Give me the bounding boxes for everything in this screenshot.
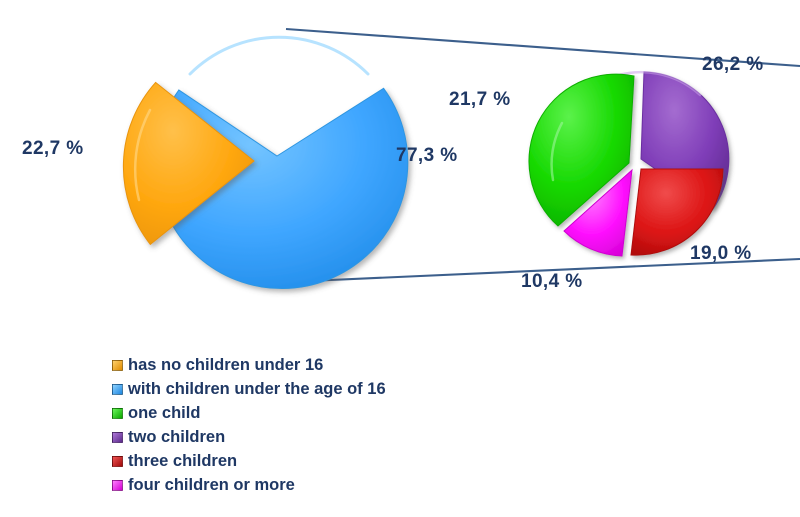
legend-label-has-no-children: has no children under 16 bbox=[128, 357, 323, 374]
legend-swatch-one-child bbox=[112, 408, 123, 419]
legend-swatch-three-children bbox=[112, 456, 123, 467]
label-three-children-pct: 19,0 % bbox=[690, 243, 752, 265]
legend-swatch-two-children bbox=[112, 432, 123, 443]
legend-item-one-child[interactable]: one child bbox=[112, 403, 386, 424]
legend-label-with-children: with children under the age of 16 bbox=[128, 381, 386, 398]
legend-label-one-child: one child bbox=[128, 405, 200, 422]
legend-item-four-or-more-children[interactable]: four children or more bbox=[112, 475, 386, 496]
legend-swatch-four-or-more-children bbox=[112, 480, 123, 491]
label-with-children-pct: 77,3 % bbox=[396, 145, 458, 167]
legend-label-three-children: three children bbox=[128, 453, 237, 470]
legend-swatch-with-children bbox=[112, 384, 123, 395]
legend-item-two-children[interactable]: two children bbox=[112, 427, 386, 448]
main-pie bbox=[123, 37, 407, 288]
legend-item-three-children[interactable]: three children bbox=[112, 451, 386, 472]
legend-item-with-children[interactable]: with children under the age of 16 bbox=[112, 379, 386, 400]
legend-swatch-has-no-children bbox=[112, 360, 123, 371]
secondary-pie bbox=[529, 72, 729, 256]
pie-of-pie-chart: 22,7 % 77,3 % 21,7 % 26,2 % 19,0 % 10,4 … bbox=[0, 0, 800, 517]
legend-label-two-children: two children bbox=[128, 429, 225, 446]
legend-item-has-no-children[interactable]: has no children under 16 bbox=[112, 355, 386, 376]
main-slice-highlight bbox=[190, 37, 368, 74]
label-four-or-more-children-pct: 10,4 % bbox=[521, 271, 583, 293]
label-one-child-pct: 21,7 % bbox=[449, 89, 511, 111]
label-two-children-pct: 26,2 % bbox=[702, 54, 764, 76]
legend-label-four-or-more-children: four children or more bbox=[128, 477, 295, 494]
label-has-no-children-pct: 22,7 % bbox=[22, 138, 84, 160]
legend: has no children under 16 with children u… bbox=[112, 355, 386, 496]
